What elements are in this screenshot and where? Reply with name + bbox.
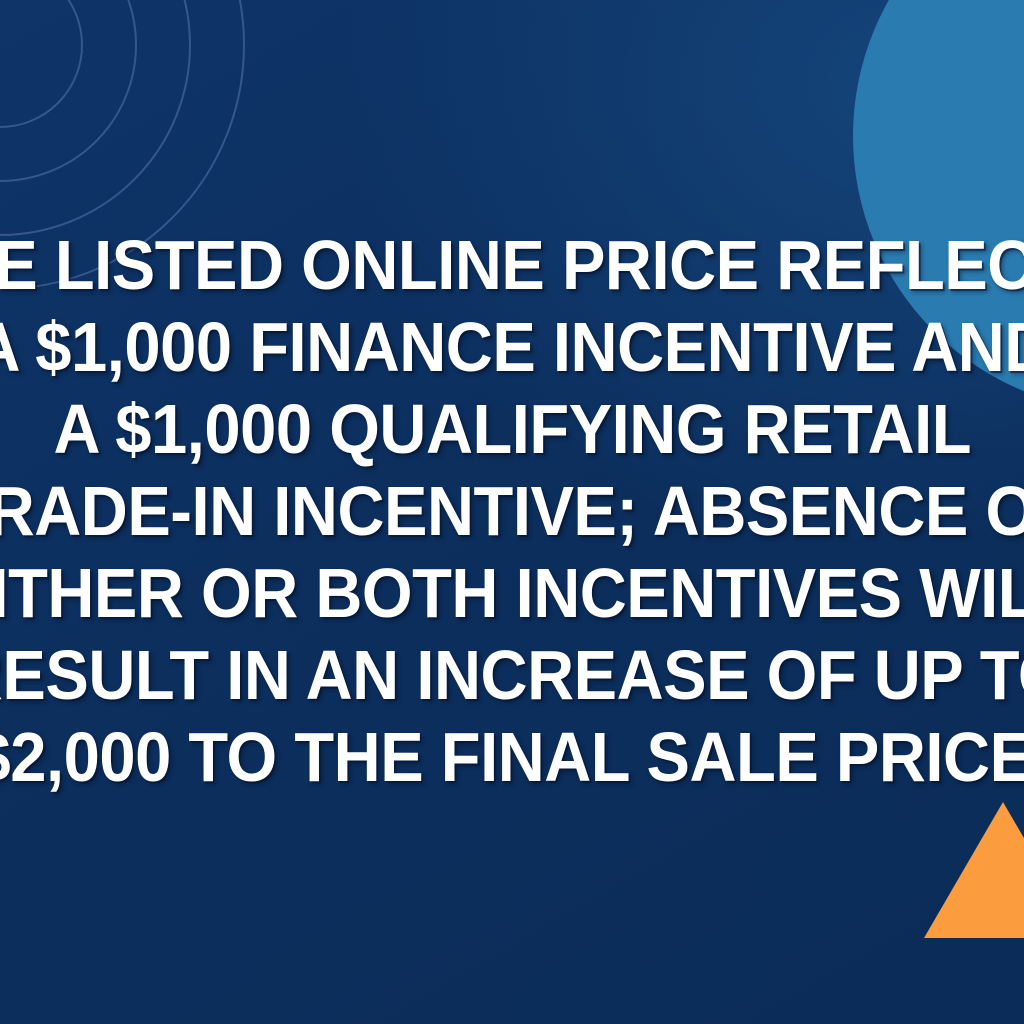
headline-line-5: EITHER OR BOTH INCENTIVES WILL: [0, 552, 1024, 634]
headline-line-2: A $1,000 FINANCE INCENTIVE AND: [0, 306, 1024, 388]
headline-line-7: $2,000 TO THE FINAL SALE PRICE.: [0, 716, 1024, 798]
headline-line-1: THE LISTED ONLINE PRICE REFLECTS: [0, 224, 1024, 306]
headline-line-3: A $1,000 QUALIFYING RETAIL: [53, 388, 971, 470]
promo-disclaimer-card: THE LISTED ONLINE PRICE REFLECTS A $1,00…: [0, 0, 1024, 1024]
headline-line-6: RESULT IN AN INCREASE OF UP TO: [0, 634, 1024, 716]
headline-block: THE LISTED ONLINE PRICE REFLECTS A $1,00…: [0, 0, 1024, 1024]
headline-line-4: TRADE-IN INCENTIVE; ABSENCE OF: [0, 470, 1024, 552]
